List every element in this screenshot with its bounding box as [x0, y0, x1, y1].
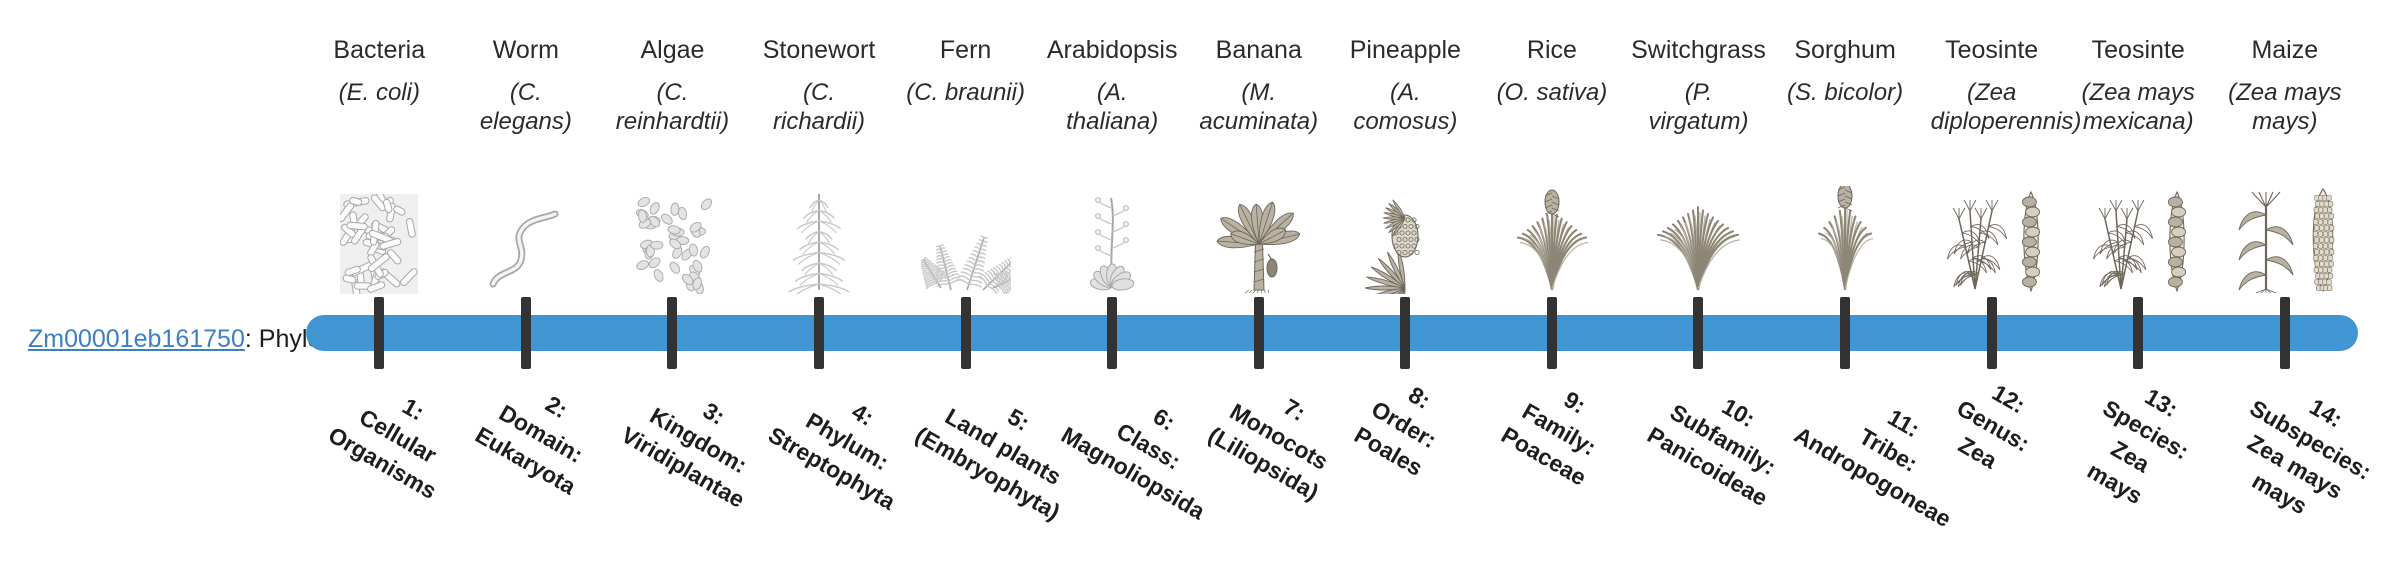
stratum-label[interactable]: 2:Domain:Eukaryota [469, 366, 612, 502]
organism-image-cell [1772, 168, 1919, 294]
species-common-name: Sorghum [1794, 36, 1895, 64]
species-common-name: Teosinte [2092, 36, 2185, 64]
bacteria-rods-icon [340, 194, 418, 294]
species-column: Banana(M. acuminata) [1185, 36, 1332, 136]
organism-image-cell [892, 168, 1039, 294]
teosinte-plant-ear-icon [2162, 188, 2192, 294]
species-common-name: Switchgrass [1631, 36, 1766, 64]
species-scientific-name: (A. comosus) [1344, 78, 1466, 136]
teosinte-plant-ear-icon [2084, 184, 2158, 294]
species-column: Sorghum(S. bicolor) [1772, 36, 1919, 107]
phylostratigraphy-chart: Zm00001eb161750: Phylostratum 1 Bacteria… [0, 0, 2400, 580]
species-scientific-name: (C. reinhardtii) [611, 78, 733, 136]
algae-cells-icon [631, 194, 713, 294]
species-column: Maize(Zea mays mays) [2212, 36, 2359, 136]
species-scientific-name: (O. sativa) [1497, 78, 1608, 107]
species-column: Worm(C. elegans) [453, 36, 600, 136]
stratum-label-cell: 5:Land plants(Embryophyta) [892, 358, 1039, 580]
species-common-name: Fern [940, 36, 991, 64]
species-common-name: Stonewort [763, 36, 876, 64]
organism-image-cell [1039, 168, 1186, 294]
switchgrass-plant-icon [1653, 186, 1743, 294]
species-column: Pineapple(A. comosus) [1332, 36, 1479, 136]
stonewort-alga-icon [782, 190, 856, 294]
stratum-label[interactable]: 9:Family:Poaceae [1495, 366, 1622, 493]
species-common-name: Rice [1527, 36, 1577, 64]
sorghum-plant-icon [1800, 186, 1890, 294]
organism-illustration-row [306, 168, 2358, 294]
organism-image-cell [1479, 168, 1626, 294]
species-column: Teosinte(Zea mays mexicana) [2065, 36, 2212, 136]
species-common-name: Teosinte [1945, 36, 2038, 64]
species-common-name: Pineapple [1350, 36, 1461, 64]
gene-accession-link[interactable]: Zm00001eb161750 [28, 325, 245, 353]
organism-image-cell [1918, 168, 2065, 294]
organism-image-cell [599, 168, 746, 294]
stratum-label-cell: 4:Phylum:Streptophyta [746, 358, 893, 580]
stratum-label-row: 1:CellularOrganisms2:Domain:Eukaryota3:K… [306, 358, 2358, 580]
species-common-name: Arabidopsis [1047, 36, 1178, 64]
stratum-label-cell: 6:Class:Magnoliopsida [1039, 358, 1186, 580]
species-column: Algae(C. reinhardtii) [599, 36, 746, 136]
organism-image-cell [1185, 168, 1332, 294]
species-scientific-name: (M. acuminata) [1198, 78, 1320, 136]
species-scientific-name: (S. bicolor) [1787, 78, 1903, 107]
gene-label-separator: : [245, 325, 259, 353]
species-scientific-name: (C. elegans) [465, 78, 587, 136]
organism-image-cell [2212, 168, 2359, 294]
maize-plant-cob-icon [2230, 184, 2302, 294]
arabidopsis-plant-icon [1070, 190, 1154, 294]
stratum-label-cell: 7:Monocots(Liliopsida) [1185, 358, 1332, 580]
stratum-label-cell: 10:Subfamily:Panicoideae [1625, 358, 1772, 580]
maize-plant-cob-icon [2306, 186, 2340, 294]
nematode-worm-icon [483, 208, 569, 294]
organism-image-cell [2065, 168, 2212, 294]
stratum-label[interactable]: 8:Order:Poales [1349, 366, 1460, 484]
species-scientific-name: (Zea mays mays) [2224, 78, 2346, 136]
stratum-label-cell: 13:Species:Zeamays [2065, 358, 2212, 580]
teosinte-plant-ear-icon [2016, 188, 2046, 294]
species-common-name: Algae [640, 36, 704, 64]
phylostratum-bar-track [306, 315, 2358, 351]
species-column: Rice(O. sativa) [1479, 36, 1626, 107]
organism-image-cell [453, 168, 600, 294]
species-scientific-name: (P. virgatum) [1637, 78, 1759, 136]
species-column: Bacteria(E. coli) [306, 36, 453, 107]
fern-frond-icon [921, 190, 1011, 294]
species-column: Stonewort(C. richardii) [746, 36, 893, 136]
banana-plant-icon [1211, 184, 1307, 294]
species-common-name: Bacteria [333, 36, 425, 64]
species-scientific-name: (C. braunii) [906, 78, 1025, 107]
species-scientific-name: (Zea diploperennis) [1931, 78, 2053, 136]
species-column: Switchgrass(P. virgatum) [1625, 36, 1772, 136]
organism-image-cell [1332, 168, 1479, 294]
species-scientific-name: (E. coli) [339, 78, 420, 107]
stratum-label-cell: 2:Domain:Eukaryota [453, 358, 600, 580]
stratum-label-cell: 1:CellularOrganisms [306, 358, 453, 580]
species-header-row: Bacteria(E. coli)Worm(C. elegans)Algae(C… [306, 36, 2358, 166]
species-scientific-name: (Zea mays mexicana) [2077, 78, 2199, 136]
stratum-label[interactable]: 13:Species:Zeamays [2066, 366, 2210, 521]
species-common-name: Banana [1216, 36, 1302, 64]
stratum-label[interactable]: 12:Genus:Zea [1935, 366, 2050, 486]
species-common-name: Worm [493, 36, 559, 64]
stratum-label-cell: 11:Tribe:Andropogoneae [1772, 358, 1919, 580]
stratum-label[interactable]: 1:CellularOrganisms [323, 366, 474, 507]
species-scientific-name: (C. richardii) [758, 78, 880, 136]
species-common-name: Maize [2251, 36, 2318, 64]
teosinte-plant-ear-icon [1938, 184, 2012, 294]
organism-image-cell [306, 168, 453, 294]
rice-plant-icon [1507, 186, 1597, 294]
species-column: Fern(C. braunii) [892, 36, 1039, 107]
pineapple-plant-icon [1365, 186, 1445, 294]
species-column: Teosinte(Zea diploperennis) [1918, 36, 2065, 136]
organism-image-cell [746, 168, 893, 294]
species-scientific-name: (A. thaliana) [1051, 78, 1173, 136]
organism-image-cell [1625, 168, 1772, 294]
stratum-label[interactable]: 14:Subspecies:Zea maysmays [2213, 366, 2392, 541]
stratum-label-cell: 12:Genus:Zea [1918, 358, 2065, 580]
stratum-label-cell: 9:Family:Poaceae [1479, 358, 1626, 580]
stratum-label-cell: 14:Subspecies:Zea maysmays [2212, 358, 2359, 580]
stratum-label-cell: 8:Order:Poales [1332, 358, 1479, 580]
stratum-label-cell: 3:Kingdom:Viridiplantae [599, 358, 746, 580]
species-column: Arabidopsis(A. thaliana) [1039, 36, 1186, 136]
